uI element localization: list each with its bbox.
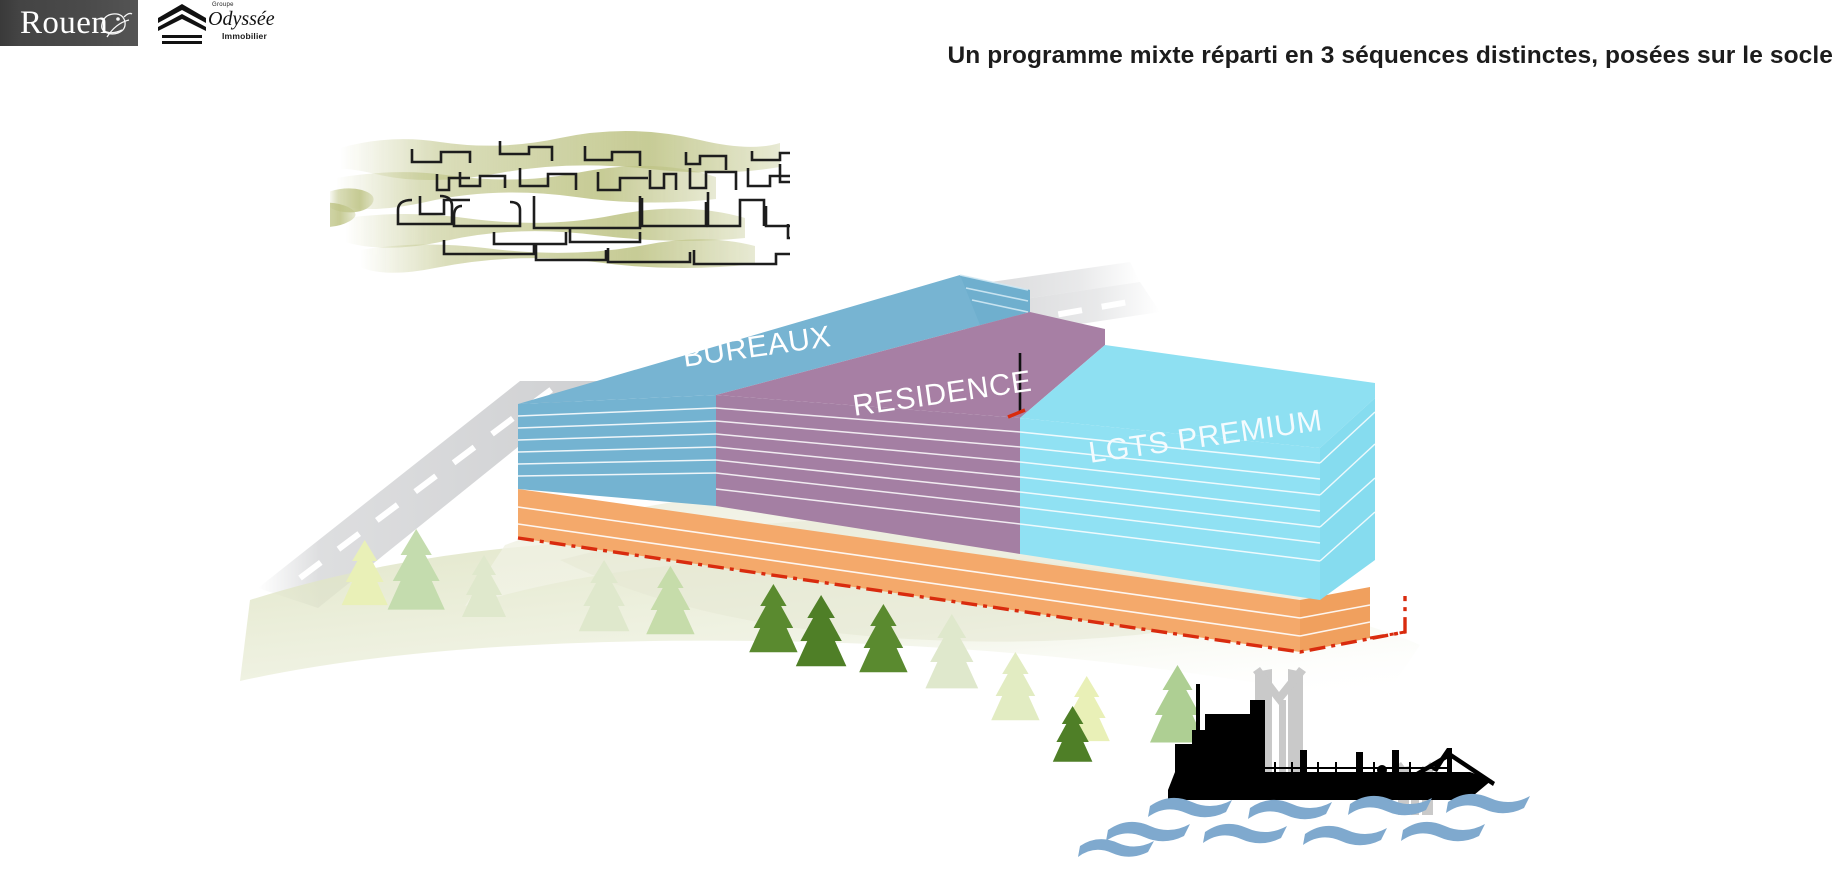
water-waves	[1078, 794, 1530, 857]
ship-hull	[1168, 772, 1492, 800]
slide-canvas: Rouen Groupe O	[0, 0, 1841, 890]
massing-diagram	[0, 0, 1841, 890]
ship-fitting	[1377, 765, 1387, 775]
ship-post-3	[1392, 750, 1399, 776]
ship-post-1	[1300, 750, 1307, 776]
tree	[991, 652, 1039, 720]
ship-post-2	[1356, 752, 1363, 776]
ship-mast	[1196, 684, 1200, 744]
cargo-ship	[1168, 684, 1495, 800]
city-skyline-sketch	[304, 131, 860, 273]
block-premium	[1020, 345, 1375, 600]
wave	[1078, 822, 1485, 857]
